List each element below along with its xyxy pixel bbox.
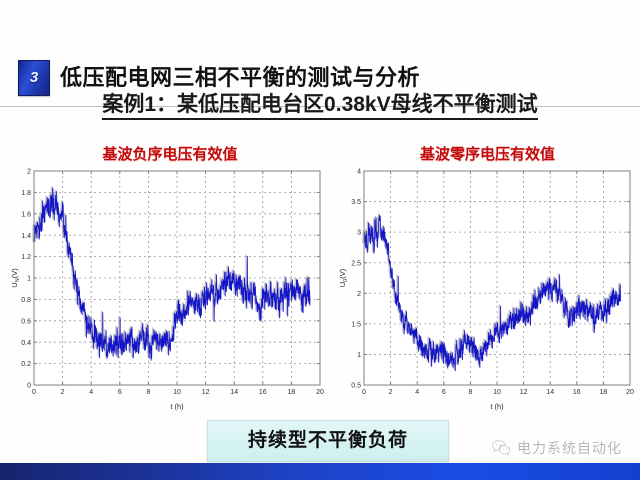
x-axis-label: t (h) bbox=[170, 402, 184, 411]
watermark: 电力系统自动化 bbox=[491, 437, 622, 459]
svg-text:0.5: 0.5 bbox=[351, 383, 361, 390]
svg-text:16: 16 bbox=[259, 389, 267, 396]
chart-zero-sequence: 024681012141618200.511.522.533.54t (h)U0… bbox=[336, 163, 636, 411]
svg-text:3.5: 3.5 bbox=[351, 199, 361, 206]
svg-text:0: 0 bbox=[27, 383, 31, 390]
svg-text:12: 12 bbox=[202, 389, 210, 396]
svg-text:1.6: 1.6 bbox=[21, 211, 31, 218]
svg-text:10: 10 bbox=[173, 389, 181, 396]
svg-text:0: 0 bbox=[32, 389, 36, 396]
svg-text:2: 2 bbox=[389, 389, 393, 396]
svg-text:12: 12 bbox=[520, 389, 528, 396]
svg-text:1.2: 1.2 bbox=[21, 254, 31, 261]
callout-text: 持续型不平衡负荷 bbox=[208, 421, 448, 461]
svg-text:10: 10 bbox=[493, 389, 501, 396]
svg-text:1.5: 1.5 bbox=[351, 321, 361, 328]
svg-text:4: 4 bbox=[357, 169, 361, 176]
svg-text:20: 20 bbox=[316, 389, 324, 396]
svg-text:1.8: 1.8 bbox=[21, 190, 31, 197]
svg-text:8: 8 bbox=[146, 389, 150, 396]
svg-text:0: 0 bbox=[362, 389, 366, 396]
watermark-text: 电力系统自动化 bbox=[517, 438, 622, 458]
svg-text:0.2: 0.2 bbox=[21, 361, 31, 368]
svg-text:4: 4 bbox=[415, 389, 419, 396]
x-axis-label: t (h) bbox=[490, 402, 504, 411]
svg-text:20: 20 bbox=[626, 389, 634, 396]
chart-heading-negative-sequence: 基波负序电压有效值 bbox=[20, 143, 320, 164]
bottom-accent-bar bbox=[0, 463, 640, 480]
svg-text:1: 1 bbox=[357, 352, 361, 359]
svg-text:14: 14 bbox=[546, 389, 554, 396]
svg-text:1: 1 bbox=[27, 276, 31, 283]
svg-text:18: 18 bbox=[288, 389, 296, 396]
slide-canvas: 3 低压配电网三相不平衡的测试与分析 案例1：某低压配电台区0.38kV母线不平… bbox=[0, 0, 640, 480]
wechat-icon bbox=[491, 439, 511, 457]
y-axis-label: U0(V) bbox=[338, 268, 349, 287]
svg-text:16: 16 bbox=[573, 389, 581, 396]
svg-text:8: 8 bbox=[468, 389, 472, 396]
svg-text:14: 14 bbox=[230, 389, 238, 396]
svg-text:2: 2 bbox=[61, 389, 65, 396]
svg-text:0.8: 0.8 bbox=[21, 297, 31, 304]
subtitle-text: 案例1：某低压配电台区0.38kV母线不平衡测试 bbox=[102, 93, 537, 120]
subtitle: 案例1：某低压配电台区0.38kV母线不平衡测试 bbox=[0, 88, 640, 118]
chart-heading-zero-sequence: 基波零序电压有效值 bbox=[345, 143, 630, 164]
svg-text:6: 6 bbox=[442, 389, 446, 396]
svg-text:1.4: 1.4 bbox=[21, 233, 31, 240]
svg-text:4: 4 bbox=[89, 389, 93, 396]
callout-box: 持续型不平衡负荷 bbox=[207, 420, 449, 462]
svg-text:2: 2 bbox=[357, 291, 361, 298]
title-row: 3 低压配电网三相不平衡的测试与分析 bbox=[0, 28, 640, 74]
svg-text:2: 2 bbox=[27, 169, 31, 176]
svg-text:2.5: 2.5 bbox=[351, 260, 361, 267]
chart-svg: 0246810121416182000.20.40.60.811.21.41.6… bbox=[8, 163, 326, 411]
svg-text:6: 6 bbox=[118, 389, 122, 396]
chart-svg: 024681012141618200.511.522.533.54t (h)U0… bbox=[336, 163, 636, 411]
svg-text:18: 18 bbox=[600, 389, 608, 396]
y-axis-label: UN(V) bbox=[10, 268, 21, 288]
svg-text:0.6: 0.6 bbox=[21, 318, 31, 325]
svg-text:0.4: 0.4 bbox=[21, 340, 31, 347]
svg-text:3: 3 bbox=[357, 230, 361, 237]
chart-negative-sequence: 0246810121416182000.20.40.60.811.21.41.6… bbox=[8, 163, 326, 411]
